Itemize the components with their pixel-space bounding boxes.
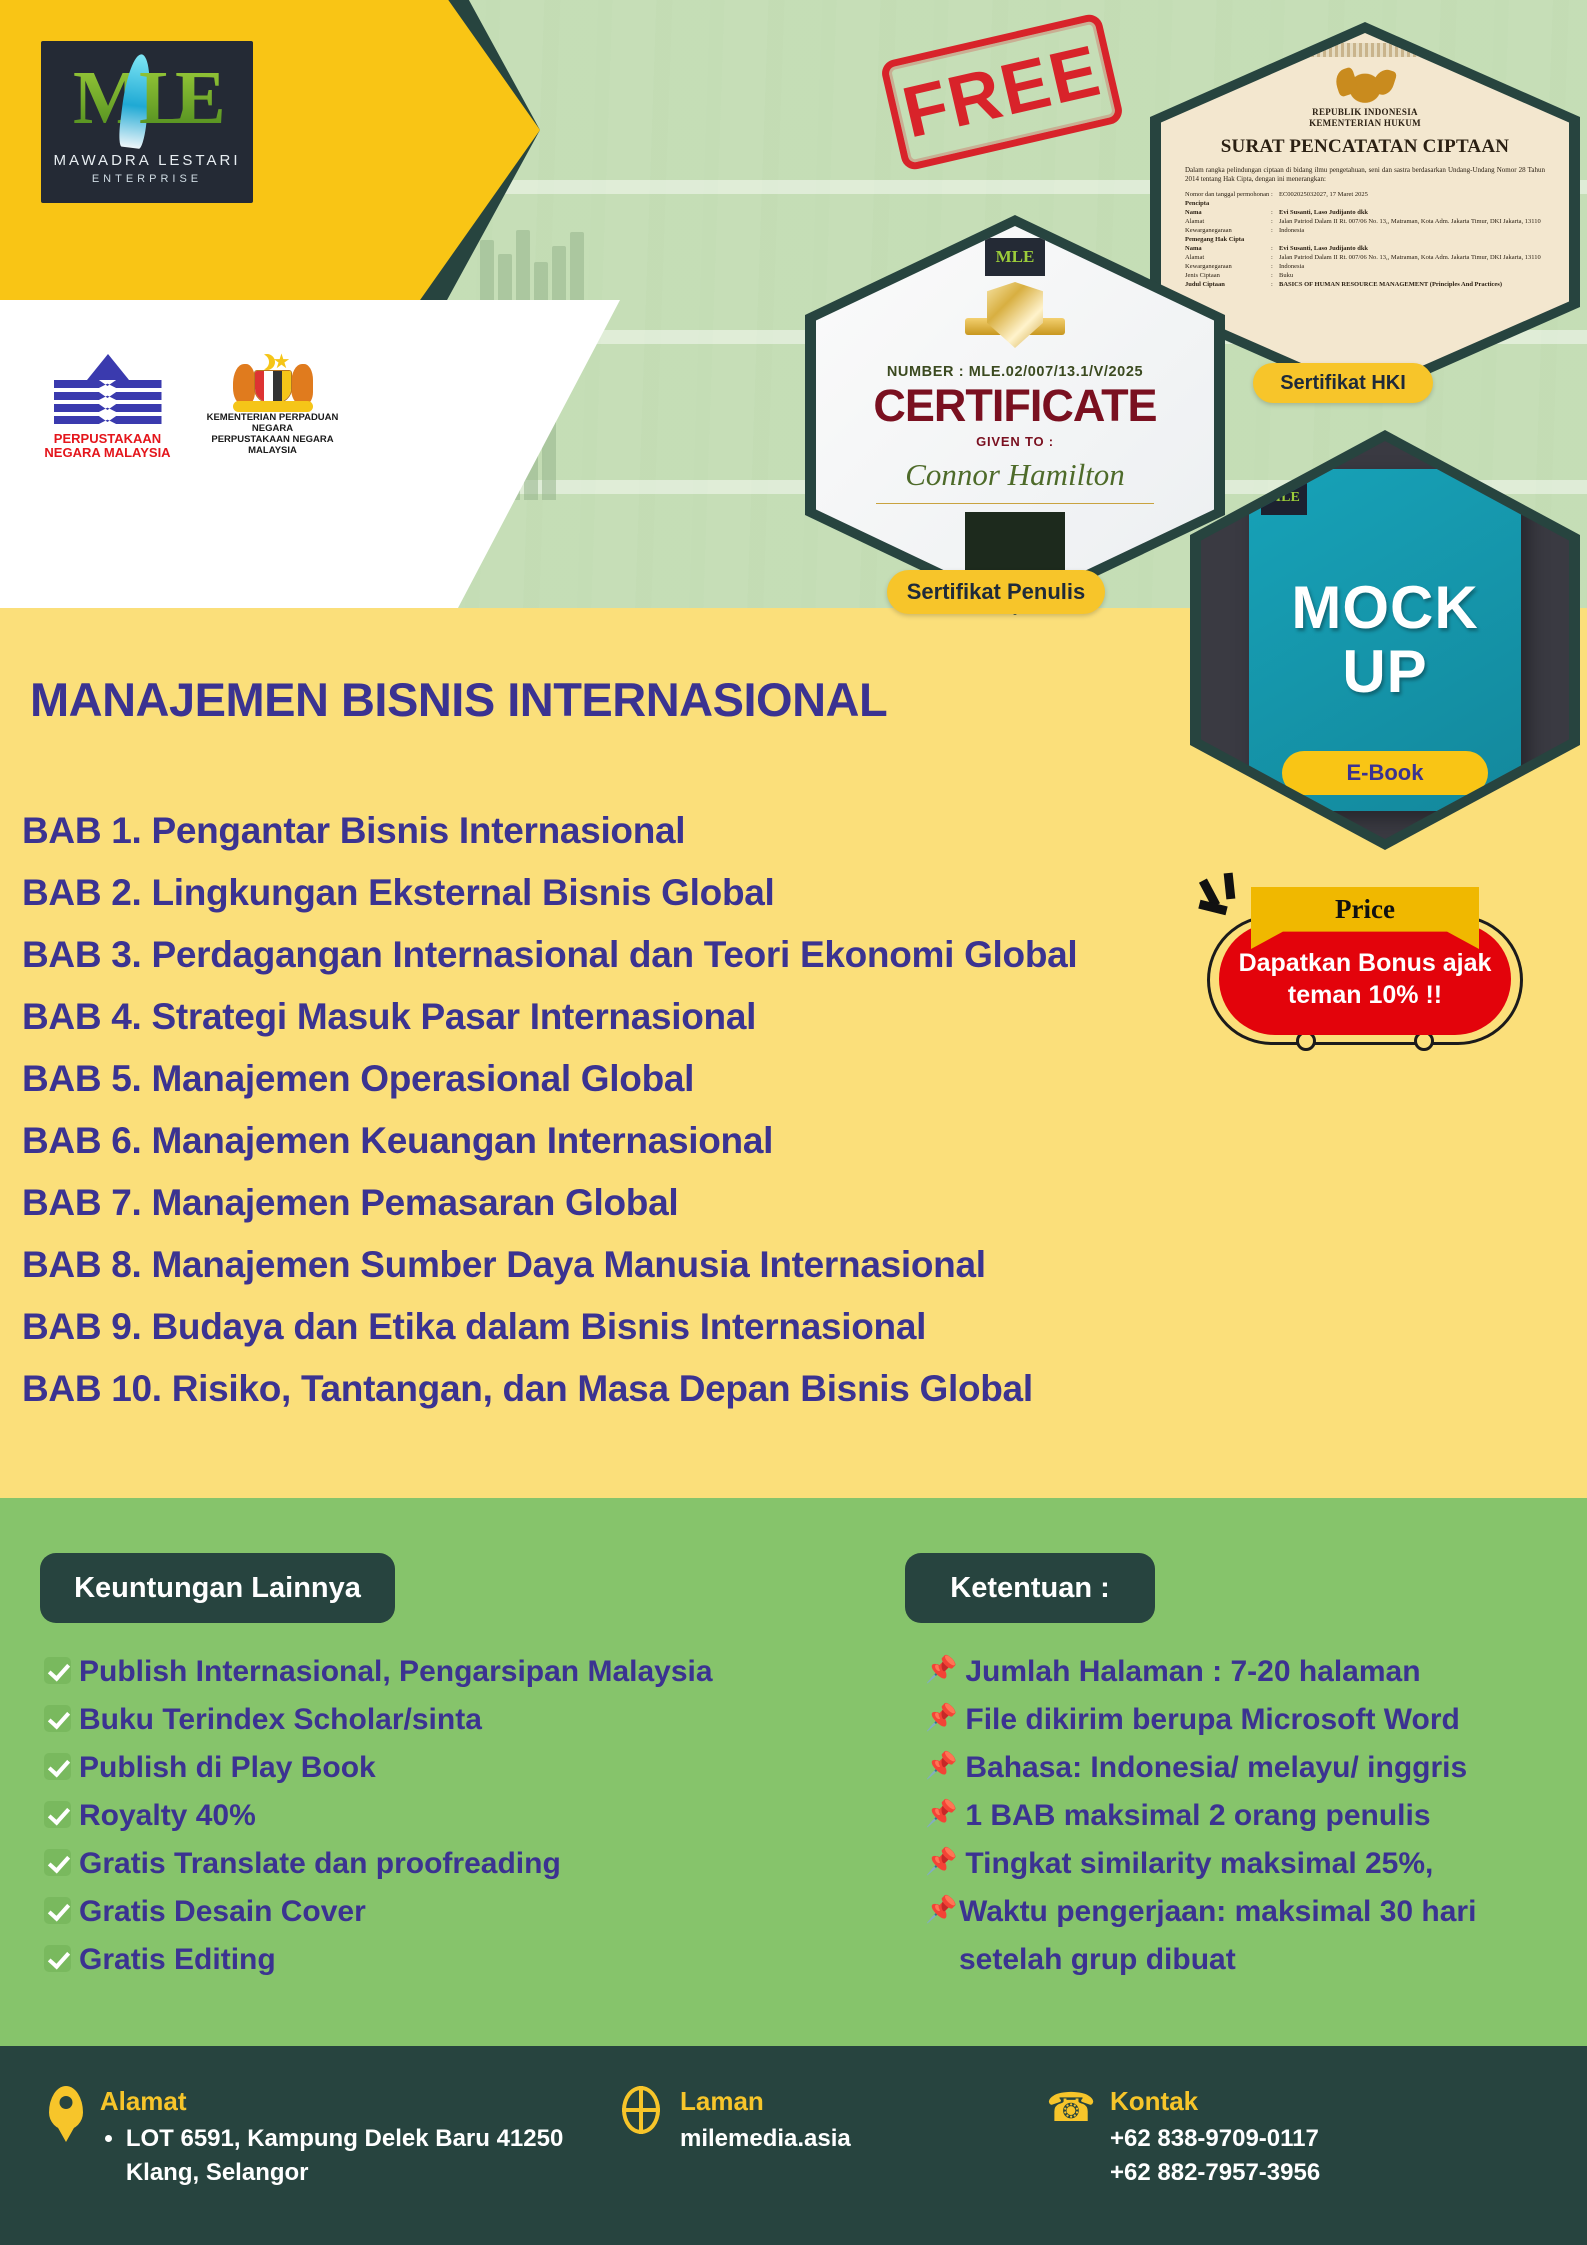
badge-ebook[interactable]: E-Book bbox=[1282, 751, 1489, 795]
hki-field-value: Evi Susanti, Laso Judijanto dkk bbox=[1279, 244, 1545, 253]
term-label: 1 BAB maksimal 2 orang penulis bbox=[965, 1792, 1430, 1840]
mockup-book-cover: MLE MOCK UP E-Book bbox=[1249, 469, 1521, 811]
benefit-item: Buku Terindex Scholar/sinta bbox=[44, 1696, 874, 1744]
term-label: File dikirim berupa Microsoft Word bbox=[965, 1696, 1460, 1744]
hki-title: SURAT PENCATATAN CIPTAAN bbox=[1179, 136, 1551, 158]
footer-website-heading: Laman bbox=[680, 2086, 851, 2116]
footer-website-block: Laman milemedia.asia bbox=[618, 2086, 1048, 2156]
mle-logo: M L E MAWADRA LESTARI ENTERPRISE bbox=[41, 41, 253, 203]
hki-field-label: Kewarganegaraan bbox=[1185, 262, 1271, 271]
check-icon bbox=[44, 1897, 71, 1924]
pnm-caption-1: PERPUSTAKAAN bbox=[54, 432, 161, 446]
hki-field-value bbox=[1279, 235, 1545, 244]
benefit-item: Gratis Editing bbox=[44, 1936, 874, 1984]
pushpin-icon: 📌 bbox=[925, 1796, 957, 1830]
certificate-mle-logo: MLE bbox=[985, 238, 1045, 276]
chapter-item: BAB 5. Manajemen Operasional Global bbox=[22, 1048, 1202, 1110]
certificate-recipient-name: Connor Hamilton bbox=[816, 457, 1214, 493]
certificate-number: NUMBER : MLE.02/007/13.1/V/2025 bbox=[816, 364, 1214, 380]
kpn-caption-1: KEMENTERIAN PERPADUAN NEGARA bbox=[190, 412, 355, 434]
hki-field-label: Kewarganegaraan bbox=[1185, 226, 1271, 235]
kpn-caption-2: PERPUSTAKAAN NEGARA MALAYSIA bbox=[190, 434, 355, 456]
pnm-caption-2: NEGARA MALAYSIA bbox=[44, 446, 170, 460]
hki-field-row: Judul Ciptaan:BASICS OF HUMAN RESOURCE M… bbox=[1185, 280, 1545, 289]
logo-company-sub: ENTERPRISE bbox=[92, 173, 202, 185]
hki-field-colon: : bbox=[1271, 271, 1279, 280]
price-bonus-line2: teman 10% !! bbox=[1288, 979, 1442, 1011]
hki-field-row: Kewarganegaraan:Indonesia bbox=[1185, 262, 1545, 271]
pushpin-icon: 📌 bbox=[925, 1892, 951, 1926]
hki-field-row: Jenis Ciptaan:Buku bbox=[1185, 271, 1545, 280]
pushpin-icon: 📌 bbox=[925, 1652, 957, 1686]
benefit-item: Royalty 40% bbox=[44, 1792, 874, 1840]
benefit-label: Gratis Editing bbox=[79, 1936, 276, 1984]
term-label: Tingkat similarity maksimal 25%, bbox=[965, 1840, 1433, 1888]
hki-field-value: Jalan Patriod Dalam II Rt. 007/06 No. 13… bbox=[1279, 253, 1545, 262]
benefit-item: Gratis Desain Cover bbox=[44, 1888, 874, 1936]
term-item: 📌1 BAB maksimal 2 orang penulis bbox=[925, 1792, 1565, 1840]
location-pin-icon bbox=[48, 2086, 84, 2190]
chapter-item: BAB 10. Risiko, Tantangan, dan Masa Depa… bbox=[22, 1358, 1202, 1420]
pushpin-icon: 📌 bbox=[925, 1748, 957, 1782]
hki-field-value: Evi Susanti, Laso Judijanto dkk bbox=[1279, 208, 1545, 217]
hki-paragraph: Dalam rangka pelindungan ciptaan di bida… bbox=[1179, 166, 1551, 184]
hki-field-value: Buku bbox=[1279, 271, 1545, 280]
terms-heading: Ketentuan : bbox=[905, 1553, 1155, 1623]
benefit-item: Publish Internasional, Pengarsipan Malay… bbox=[44, 1648, 874, 1696]
certificate-document: MLE NUMBER : MLE.02/007/13.1/V/2025 CERT… bbox=[816, 226, 1214, 604]
hki-field-colon: : bbox=[1271, 253, 1279, 262]
check-icon bbox=[44, 1657, 71, 1684]
footer-contact-block: ☎ Kontak +62 838-9709-0117 +62 882-7957-… bbox=[1048, 2086, 1508, 2190]
benefit-label: Publish di Play Book bbox=[79, 1744, 376, 1792]
benefits-heading: Keuntungan Lainnya bbox=[40, 1553, 395, 1623]
hki-field-row: Kewarganegaraan:Indonesia bbox=[1185, 226, 1545, 235]
term-item: 📌Jumlah Halaman : 7-20 halaman bbox=[925, 1648, 1565, 1696]
hki-field-colon: : bbox=[1271, 190, 1279, 199]
mle-logo-mark: M L E bbox=[67, 60, 227, 146]
hki-field-row: Nomor dan tanggal permohonan:EC002025032… bbox=[1185, 190, 1545, 199]
term-label: Waktu pengerjaan: maksimal 30 hari setel… bbox=[959, 1888, 1565, 1984]
certificate-given-to-label: GIVEN TO : bbox=[816, 434, 1214, 449]
price-label: Price bbox=[1335, 887, 1395, 931]
badge-sertifikat-hki[interactable]: Sertifikat HKI bbox=[1253, 363, 1433, 403]
footer-phone-2[interactable]: +62 882-7957-3956 bbox=[1110, 2156, 1320, 2190]
footer-address-heading: Alamat bbox=[100, 2086, 608, 2116]
library-building-icon bbox=[54, 354, 162, 432]
chapter-item: BAB 4. Strategi Masuk Pasar Internasiona… bbox=[22, 986, 1202, 1048]
hki-field-value: BASICS OF HUMAN RESOURCE MANAGEMENT (Pri… bbox=[1279, 280, 1545, 289]
hki-field-colon: : bbox=[1271, 226, 1279, 235]
hki-field-colon: : bbox=[1271, 208, 1279, 217]
garuda-emblem-icon bbox=[1338, 63, 1392, 105]
hki-field-row: Nama:Evi Susanti, Laso Judijanto dkk bbox=[1185, 208, 1545, 217]
hki-field-row: Nama:Evi Susanti, Laso Judijanto dkk bbox=[1185, 244, 1545, 253]
term-label: Bahasa: Indonesia/ melayu/ inggris bbox=[965, 1744, 1467, 1792]
hki-field-label: Nama bbox=[1185, 208, 1271, 217]
benefit-label: Publish Internasional, Pengarsipan Malay… bbox=[79, 1648, 713, 1696]
footer-phone-1[interactable]: +62 838-9709-0117 bbox=[1110, 2122, 1320, 2156]
mockup-text-line2: UP bbox=[1342, 640, 1427, 704]
hki-field-colon: : bbox=[1271, 217, 1279, 226]
hki-field-colon bbox=[1271, 199, 1279, 208]
certificate-book-thumb bbox=[965, 512, 1065, 570]
hki-field-colon: : bbox=[1271, 280, 1279, 289]
chapter-item: BAB 3. Perdagangan Internasional dan Teo… bbox=[22, 924, 1202, 986]
check-icon bbox=[44, 1705, 71, 1732]
benefits-list: Publish Internasional, Pengarsipan Malay… bbox=[44, 1648, 874, 1984]
check-icon bbox=[44, 1849, 71, 1876]
chapter-item: BAB 9. Budaya dan Etika dalam Bisnis Int… bbox=[22, 1296, 1202, 1358]
hki-field-label: Jenis Ciptaan bbox=[1185, 271, 1271, 280]
jata-negara-crest-icon: ★ bbox=[227, 350, 319, 412]
logo-company-name: MAWADRA LESTARI bbox=[54, 152, 241, 169]
hki-field-row: Alamat:Jalan Patriod Dalam II Rt. 007/06… bbox=[1185, 253, 1545, 262]
terms-list: 📌Jumlah Halaman : 7-20 halaman📌File diki… bbox=[925, 1648, 1565, 1984]
hki-field-row: Pemegang Hak Cipta bbox=[1185, 235, 1545, 244]
mockup-text-line1: MOCK bbox=[1291, 576, 1478, 640]
chapter-item: BAB 1. Pengantar Bisnis Internasional bbox=[22, 800, 1202, 862]
term-item: 📌File dikirim berupa Microsoft Word bbox=[925, 1696, 1565, 1744]
price-badge[interactable]: Dapatkan Bonus ajak teman 10% !! Price bbox=[1185, 865, 1545, 1075]
hki-field-value: Jalan Patriod Dalam II Rt. 007/06 No. 13… bbox=[1279, 217, 1545, 226]
chapter-item: BAB 2. Lingkungan Eksternal Bisnis Globa… bbox=[22, 862, 1202, 924]
chapter-item: BAB 8. Manajemen Sumber Daya Manusia Int… bbox=[22, 1234, 1202, 1296]
term-label: Jumlah Halaman : 7-20 halaman bbox=[965, 1648, 1420, 1696]
certificate-word: CERTIFICATE bbox=[816, 380, 1214, 432]
footer-bar: Alamat LOT 6591, Kampung Delek Baru 4125… bbox=[0, 2046, 1587, 2245]
check-icon bbox=[44, 1801, 71, 1828]
benefit-item: Gratis Translate dan proofreading bbox=[44, 1840, 874, 1888]
term-item: 📌Waktu pengerjaan: maksimal 30 hari sete… bbox=[925, 1888, 1565, 1984]
hki-republic-line2: KEMENTERIAN HUKUM bbox=[1179, 118, 1551, 129]
page-title: MANAJEMEN BISNIS INTERNASIONAL bbox=[30, 672, 887, 727]
check-icon bbox=[44, 1753, 71, 1780]
chapter-list: BAB 1. Pengantar Bisnis InternasionalBAB… bbox=[22, 800, 1202, 1420]
hki-field-colon bbox=[1271, 235, 1279, 244]
hki-field-value bbox=[1279, 199, 1545, 208]
gold-shield-icon bbox=[973, 282, 1057, 358]
footer-website-value[interactable]: milemedia.asia bbox=[680, 2122, 851, 2156]
hki-field-value: Indonesia bbox=[1279, 226, 1545, 235]
hki-republic-line1: REPUBLIK INDONESIA bbox=[1179, 107, 1551, 118]
check-icon bbox=[44, 1945, 71, 1972]
hki-field-label: Alamat bbox=[1185, 253, 1271, 262]
hki-field-label: Alamat bbox=[1185, 217, 1271, 226]
hki-field-label: Nama bbox=[1185, 244, 1271, 253]
benefit-label: Gratis Desain Cover bbox=[79, 1888, 366, 1936]
phone-icon: ☎ bbox=[1048, 2086, 1094, 2190]
chapter-item: BAB 6. Manajemen Keuangan Internasional bbox=[22, 1110, 1202, 1172]
term-item: 📌Tingkat similarity maksimal 25%, bbox=[925, 1840, 1565, 1888]
hki-field-row: Pencipta bbox=[1185, 199, 1545, 208]
term-item: 📌Bahasa: Indonesia/ melayu/ inggris bbox=[925, 1744, 1565, 1792]
pushpin-icon: 📌 bbox=[925, 1700, 957, 1734]
hki-field-colon: : bbox=[1271, 262, 1279, 271]
hki-field-label: Pemegang Hak Cipta bbox=[1185, 235, 1271, 244]
globe-icon bbox=[618, 2086, 664, 2156]
benefit-item: Publish di Play Book bbox=[44, 1744, 874, 1792]
kementerian-perpaduan-negara-logo: ★ KEMENTERIAN PERPADUAN NEGARA PERPUSTAK… bbox=[190, 350, 355, 460]
footer-contact-heading: Kontak bbox=[1110, 2086, 1320, 2116]
benefit-label: Buku Terindex Scholar/sinta bbox=[79, 1696, 482, 1744]
hki-field-value: EC002025032027, 17 Maret 2025 bbox=[1279, 190, 1545, 199]
benefit-label: Gratis Translate dan proofreading bbox=[79, 1840, 561, 1888]
benefit-label: Royalty 40% bbox=[79, 1792, 256, 1840]
hki-field-label: Judul Ciptaan bbox=[1185, 280, 1271, 289]
hki-field-colon: : bbox=[1271, 244, 1279, 253]
chapter-item: BAB 7. Manajemen Pemasaran Global bbox=[22, 1172, 1202, 1234]
poster-canvas: M L E MAWADRA LESTARI ENTERPRISE PERPUST… bbox=[0, 0, 1587, 2245]
perpustakaan-negara-malaysia-logo: PERPUSTAKAAN NEGARA MALAYSIA bbox=[35, 350, 180, 460]
sparkle-icon bbox=[1199, 873, 1259, 923]
footer-address-block: Alamat LOT 6591, Kampung Delek Baru 4125… bbox=[48, 2086, 608, 2190]
price-bonus-line1: Dapatkan Bonus ajak bbox=[1239, 947, 1492, 979]
badge-sertifikat-penulis[interactable]: Sertifikat Penulis bbox=[887, 570, 1105, 614]
hki-field-label: Pencipta bbox=[1185, 199, 1271, 208]
hki-field-rows: Nomor dan tanggal permohonan:EC002025032… bbox=[1179, 190, 1551, 289]
pushpin-icon: 📌 bbox=[925, 1844, 957, 1878]
footer-address-line: LOT 6591, Kampung Delek Baru 41250 Klang… bbox=[126, 2122, 608, 2190]
hki-field-label: Nomor dan tanggal permohonan bbox=[1185, 190, 1271, 199]
hki-field-row: Alamat:Jalan Patriod Dalam II Rt. 007/06… bbox=[1185, 217, 1545, 226]
hki-field-value: Indonesia bbox=[1279, 262, 1545, 271]
